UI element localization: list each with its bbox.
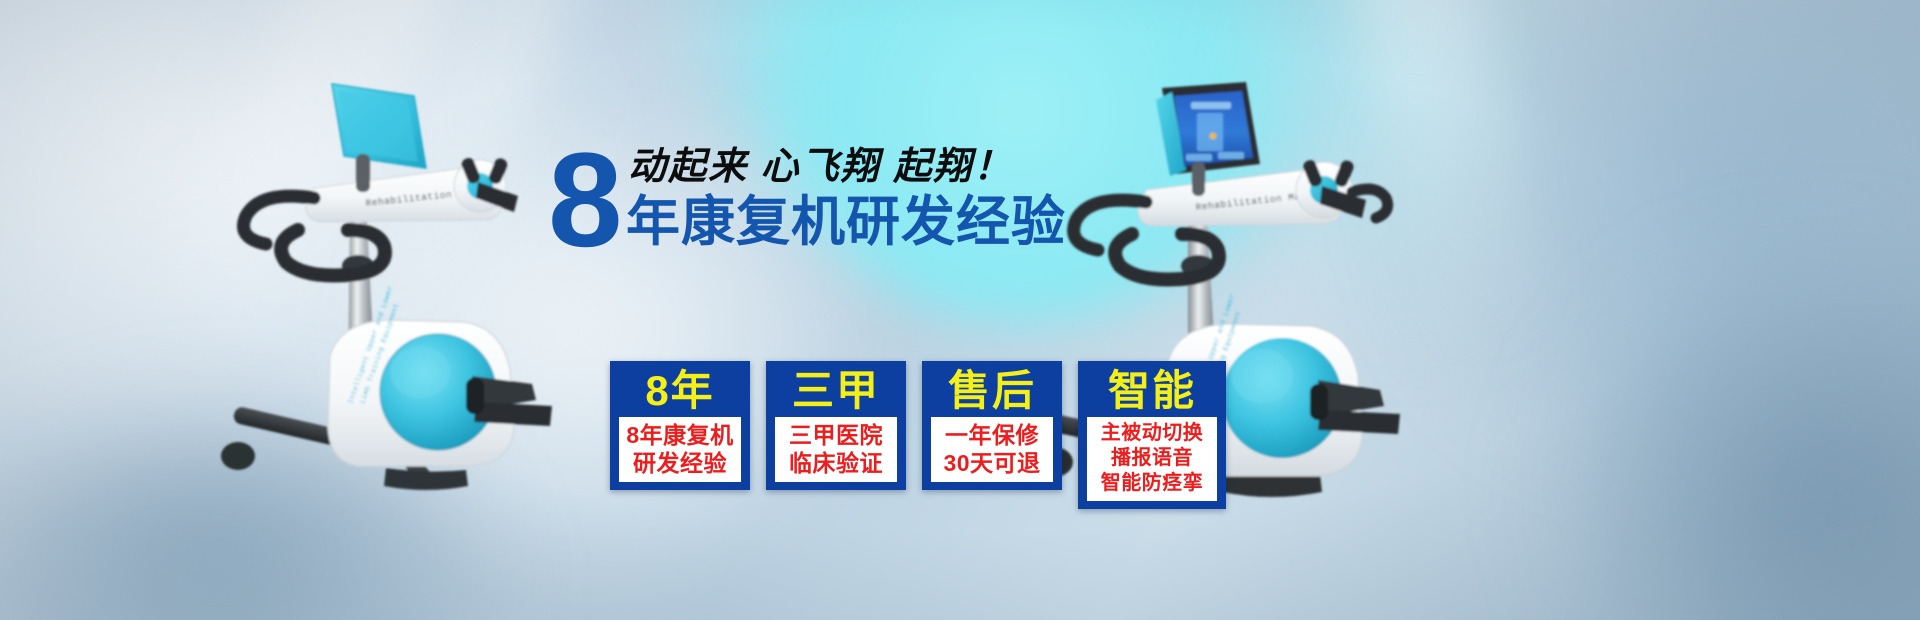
feature-badge-smart[interactable]: 智能 主被动切换 播报语音 智能防痉挛 [1078, 361, 1226, 509]
badge-body: 一年保修 30天可退 [931, 417, 1053, 482]
badge-line: 研发经验 [621, 449, 739, 477]
headline-big-number: 8 [548, 134, 621, 268]
badge-body: 8年康复机 研发经验 [619, 417, 741, 482]
badge-line: 临床验证 [777, 449, 895, 477]
badge-body: 三甲医院 临床验证 [775, 417, 897, 482]
badge-line: 一年保修 [933, 421, 1051, 449]
badge-title: 8年 [613, 364, 747, 415]
badge-title: 售后 [925, 364, 1059, 415]
badge-title: 三甲 [769, 364, 903, 415]
promo-banner: Intelligent Upper and Lower Limb Trainin… [0, 0, 1920, 620]
badge-line: 30天可退 [933, 449, 1051, 477]
headline-subtitle: 年康复机研发经验 [626, 195, 1066, 249]
feature-badge-row: 8年 8年康复机 研发经验 三甲 三甲医院 临床验证 售后 一年保修 30天可退… [610, 361, 1226, 509]
badge-line: 主被动切换 [1089, 421, 1215, 446]
headline-slogan: 动起来 心飞翔 起翔！ [628, 148, 1013, 186]
badge-line: 三甲医院 [777, 421, 895, 449]
feature-badge-hospital[interactable]: 三甲 三甲医院 临床验证 [766, 361, 906, 490]
badge-line: 智能防痉挛 [1089, 471, 1215, 496]
feature-badge-aftersales[interactable]: 售后 一年保修 30天可退 [922, 361, 1062, 490]
headline-block: 8 动起来 心飞翔 起翔！ 年康复机研发经验 [548, 140, 1068, 265]
badge-body: 主被动切换 播报语音 智能防痉挛 [1087, 417, 1217, 500]
feature-badge-years[interactable]: 8年 8年康复机 研发经验 [610, 361, 750, 490]
badge-title: 智能 [1081, 364, 1223, 415]
badge-line: 播报语音 [1089, 446, 1215, 471]
badge-line: 8年康复机 [621, 421, 739, 449]
rehabilitation-bike-left: Intelligent Upper and Lower Limb Trainin… [180, 70, 580, 520]
